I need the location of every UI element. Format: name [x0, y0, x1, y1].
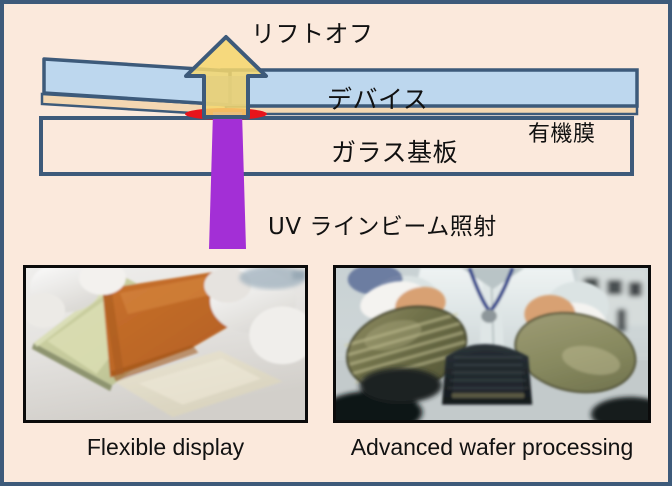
label-organic-film: 有機膜: [528, 116, 596, 148]
panel-advanced-wafer-processing: Advanced wafer processing: [333, 265, 651, 461]
panel-flexible-display: Flexible display: [23, 265, 308, 461]
photo-panels: Flexible display: [4, 256, 672, 486]
caption-advanced-wafer-processing: Advanced wafer processing: [333, 434, 651, 461]
slide-canvas: リフトオフ デバイス ガラス基板 有機膜 UV ラインビーム照射: [0, 0, 672, 486]
label-device: デバイス: [327, 80, 428, 116]
device-layer-bar: [222, 70, 637, 106]
photo-advanced-wafer-processing: [333, 265, 651, 423]
liftoff-schematic: リフトオフ デバイス ガラス基板 有機膜 UV ラインビーム照射: [4, 4, 672, 256]
label-uv-line-beam: UV ラインビーム照射: [268, 207, 497, 241]
label-glass-substrate: ガラス基板: [331, 133, 458, 169]
photo-flexible-display: [23, 265, 308, 423]
uv-beam: [209, 112, 246, 249]
liftoff-arrow-shaft-overlap: [206, 76, 246, 106]
caption-flexible-display: Flexible display: [23, 434, 308, 461]
label-liftoff: リフトオフ: [251, 14, 374, 49]
